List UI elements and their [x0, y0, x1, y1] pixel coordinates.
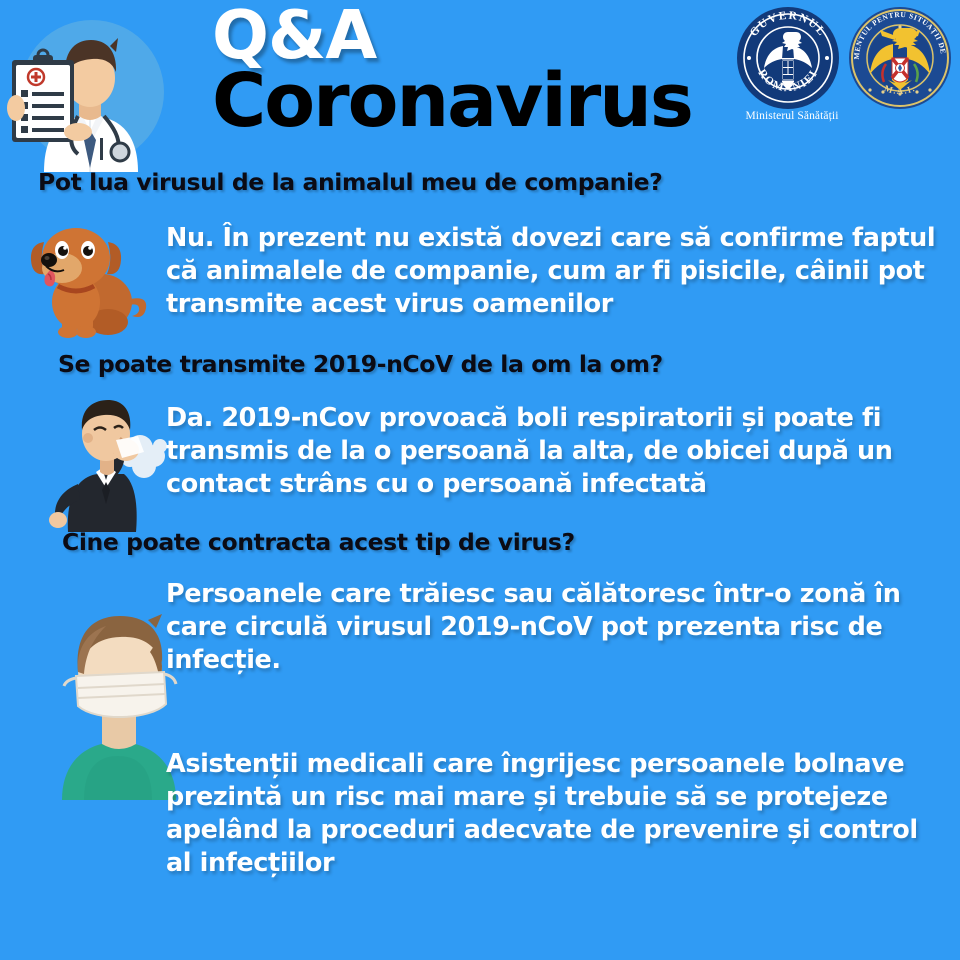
official-logos: GUVERNUL ROMÂNIEI: [736, 6, 956, 146]
answer-3-1: Persoanele care trăiesc sau călătoresc î…: [166, 578, 936, 677]
infographic-poster: Q&A Coronavirus GUVERNUL: [0, 0, 960, 960]
answer-3-2: Asistenții medicali care îngrijesc perso…: [166, 748, 946, 880]
man-coughing-into-tissue-illustration: [40, 392, 172, 532]
question-2: Se poate transmite 2019-nCoV de la om la…: [58, 350, 663, 378]
poster-header: Q&A Coronavirus GUVERNUL: [0, 0, 960, 168]
departamentul-situatii-urgenta-seal: DEPARTAMENTUL PENTRU SITUAȚII DE URGENȚĂ…: [848, 6, 952, 115]
title-coronavirus: Coronavirus: [212, 64, 732, 138]
sitting-dog-illustration: [22, 214, 158, 346]
question-1: Pot lua virusul de la animalul meu de co…: [38, 168, 662, 196]
answer-2-1: Da. 2019-nCov provoacă boli respiratorii…: [166, 402, 936, 501]
poster-title-block: Q&A Coronavirus: [212, 4, 732, 138]
ministry-label: Ministerul Sănătății: [734, 110, 850, 122]
answer-1-1: Nu. În prezent nu există dovezi care să …: [166, 222, 956, 321]
question-3: Cine poate contracta acest tip de virus?: [62, 528, 575, 556]
doctor-with-clipboard-illustration: [6, 12, 174, 172]
guvernul-romaniei-seal: GUVERNUL ROMÂNIEI: [736, 6, 840, 115]
